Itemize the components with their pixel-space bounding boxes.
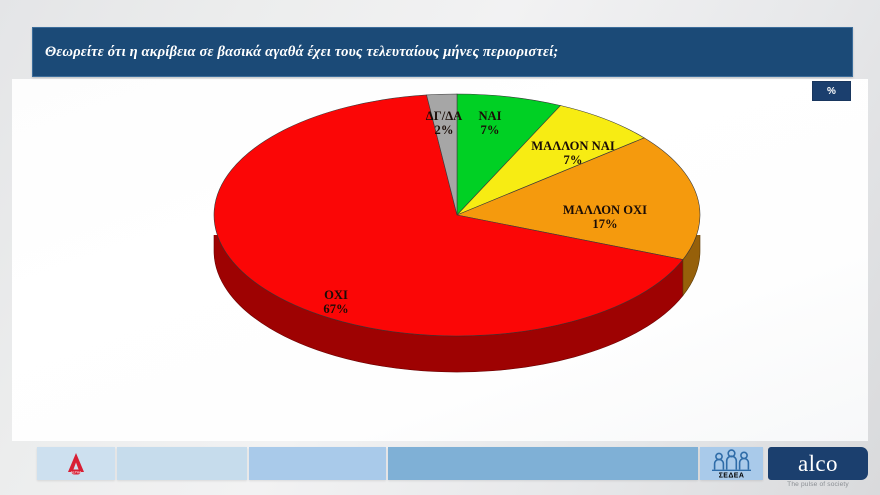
svg-text:ALPHA: ALPHA bbox=[71, 470, 82, 474]
slice-label-oxi: ΟΧΙ 67% bbox=[309, 288, 363, 316]
alpha-channel-icon: ALPHA bbox=[63, 451, 89, 477]
footer-bar-strip: ALPHA ΣΕΔΕΑ bbox=[0, 447, 880, 480]
footer-channel-logo-cell: ALPHA bbox=[37, 447, 115, 480]
alco-tagline: The pulse of society bbox=[768, 481, 868, 488]
footer-sedea-cell: ΣΕΔΕΑ bbox=[700, 447, 763, 480]
slide-canvas: Θεωρείτε ότι η ακρίβεια σε βασικά αγαθά … bbox=[0, 0, 880, 495]
sedea-people-icon: ΣΕΔΕΑ bbox=[707, 449, 757, 479]
slice-label-nai: ΝΑΙ 7% bbox=[464, 109, 516, 137]
footer-bar-2 bbox=[117, 447, 247, 480]
pie-chart: ΔΓ/ΔΑ 2% ΝΑΙ 7% ΜΑΛΛΟΝ ΝΑΙ 7% ΜΑΛΛΟΝ ΟΧΙ… bbox=[12, 79, 868, 441]
alco-logo: alco bbox=[768, 447, 868, 480]
page-title: Θεωρείτε ότι η ακρίβεια σε βασικά αγαθά … bbox=[33, 44, 558, 61]
footer-bar-4 bbox=[388, 447, 698, 480]
footer-bar-3 bbox=[249, 447, 386, 480]
slice-label-mallon-oxi: ΜΑΛΛΟΝ ΟΧΙ 17% bbox=[540, 203, 670, 231]
question-title-bar: Θεωρείτε ότι η ακρίβεια σε βασικά αγαθά … bbox=[32, 27, 853, 77]
alco-wordmark: alco bbox=[798, 451, 838, 477]
sedea-label: ΣΕΔΕΑ bbox=[718, 472, 744, 479]
slice-label-mallon-nai: ΜΑΛΛΟΝ ΝΑΙ 7% bbox=[509, 139, 637, 167]
